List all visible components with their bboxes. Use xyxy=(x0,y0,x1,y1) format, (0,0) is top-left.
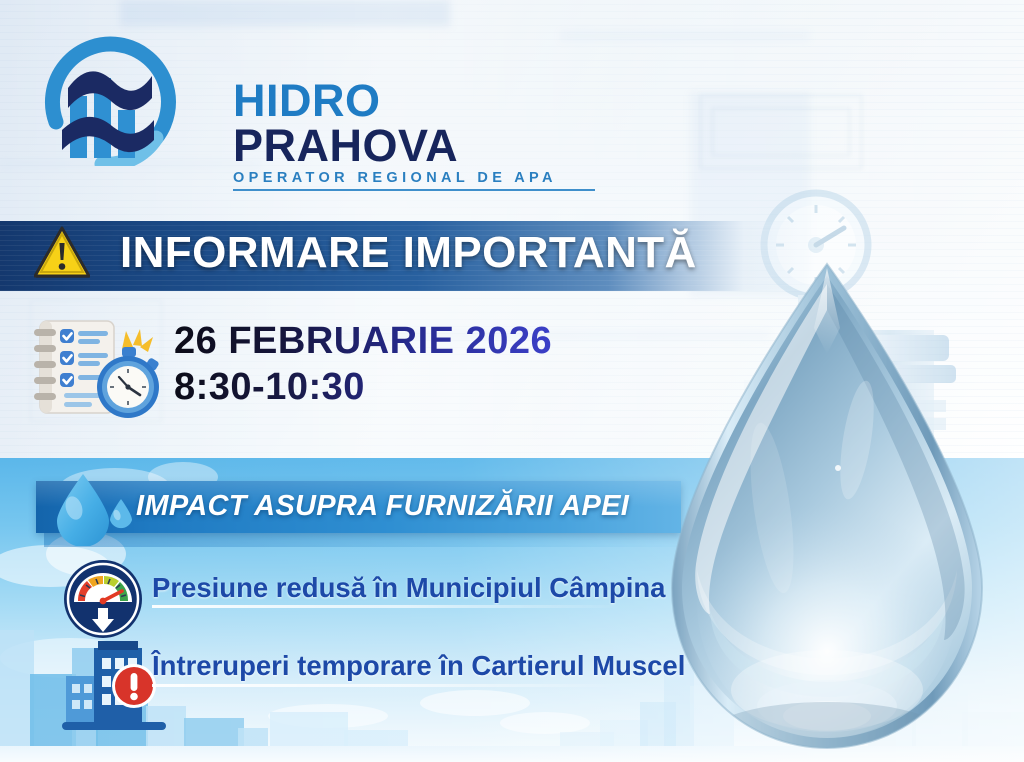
impact-item-1-rule xyxy=(152,605,622,608)
bg-shape xyxy=(120,0,450,26)
bg-shape xyxy=(712,108,850,156)
brand-wordmark: HIDRO PRAHOVA OPERATOR REGIONAL DE APA xyxy=(233,78,595,191)
schedule-time: 8:30-10:30 xyxy=(174,364,552,410)
impact-item-2-label: Întreruperi temporare în Cartierul Musce… xyxy=(152,650,685,682)
brand-tagline: OPERATOR REGIONAL DE APA xyxy=(233,170,595,191)
impact-item-1-label: Presiune redusă în Municipiul Câmpina xyxy=(152,572,665,604)
warning-triangle-icon xyxy=(34,226,90,278)
bg-shape xyxy=(560,30,810,42)
brand-name: HIDRO PRAHOVA xyxy=(233,78,595,168)
brand-name-part1: HIDRO xyxy=(233,75,381,126)
brand-logo[interactable]: HIDRO PRAHOVA OPERATOR REGIONAL DE APA xyxy=(38,26,578,166)
impact-item-2-rule xyxy=(152,684,622,687)
page-title: INFORMARE IMPORTANTĂ xyxy=(120,228,697,278)
impact-title: IMPACT ASUPRA FURNIZĂRII APEI xyxy=(136,490,629,523)
brand-name-part2: PRAHOVA xyxy=(233,120,458,171)
hidro-prahova-logo-icon xyxy=(38,26,188,166)
poster-canvas: HIDRO PRAHOVA OPERATOR REGIONAL DE APA I… xyxy=(0,0,1024,762)
impact-banner-shadow xyxy=(44,533,681,547)
large-water-droplet xyxy=(652,258,1002,758)
pressure-gauge-down-arrow-icon xyxy=(62,558,144,640)
water-drop-icon xyxy=(53,472,113,546)
calendar-checklist-stopwatch-icon xyxy=(18,307,168,427)
schedule-date: 26 FEBRUARIE 2026 xyxy=(174,318,552,364)
water-drop-small-icon xyxy=(108,498,134,531)
schedule-block: 26 FEBRUARIE 2026 8:30-10:30 xyxy=(174,318,552,411)
